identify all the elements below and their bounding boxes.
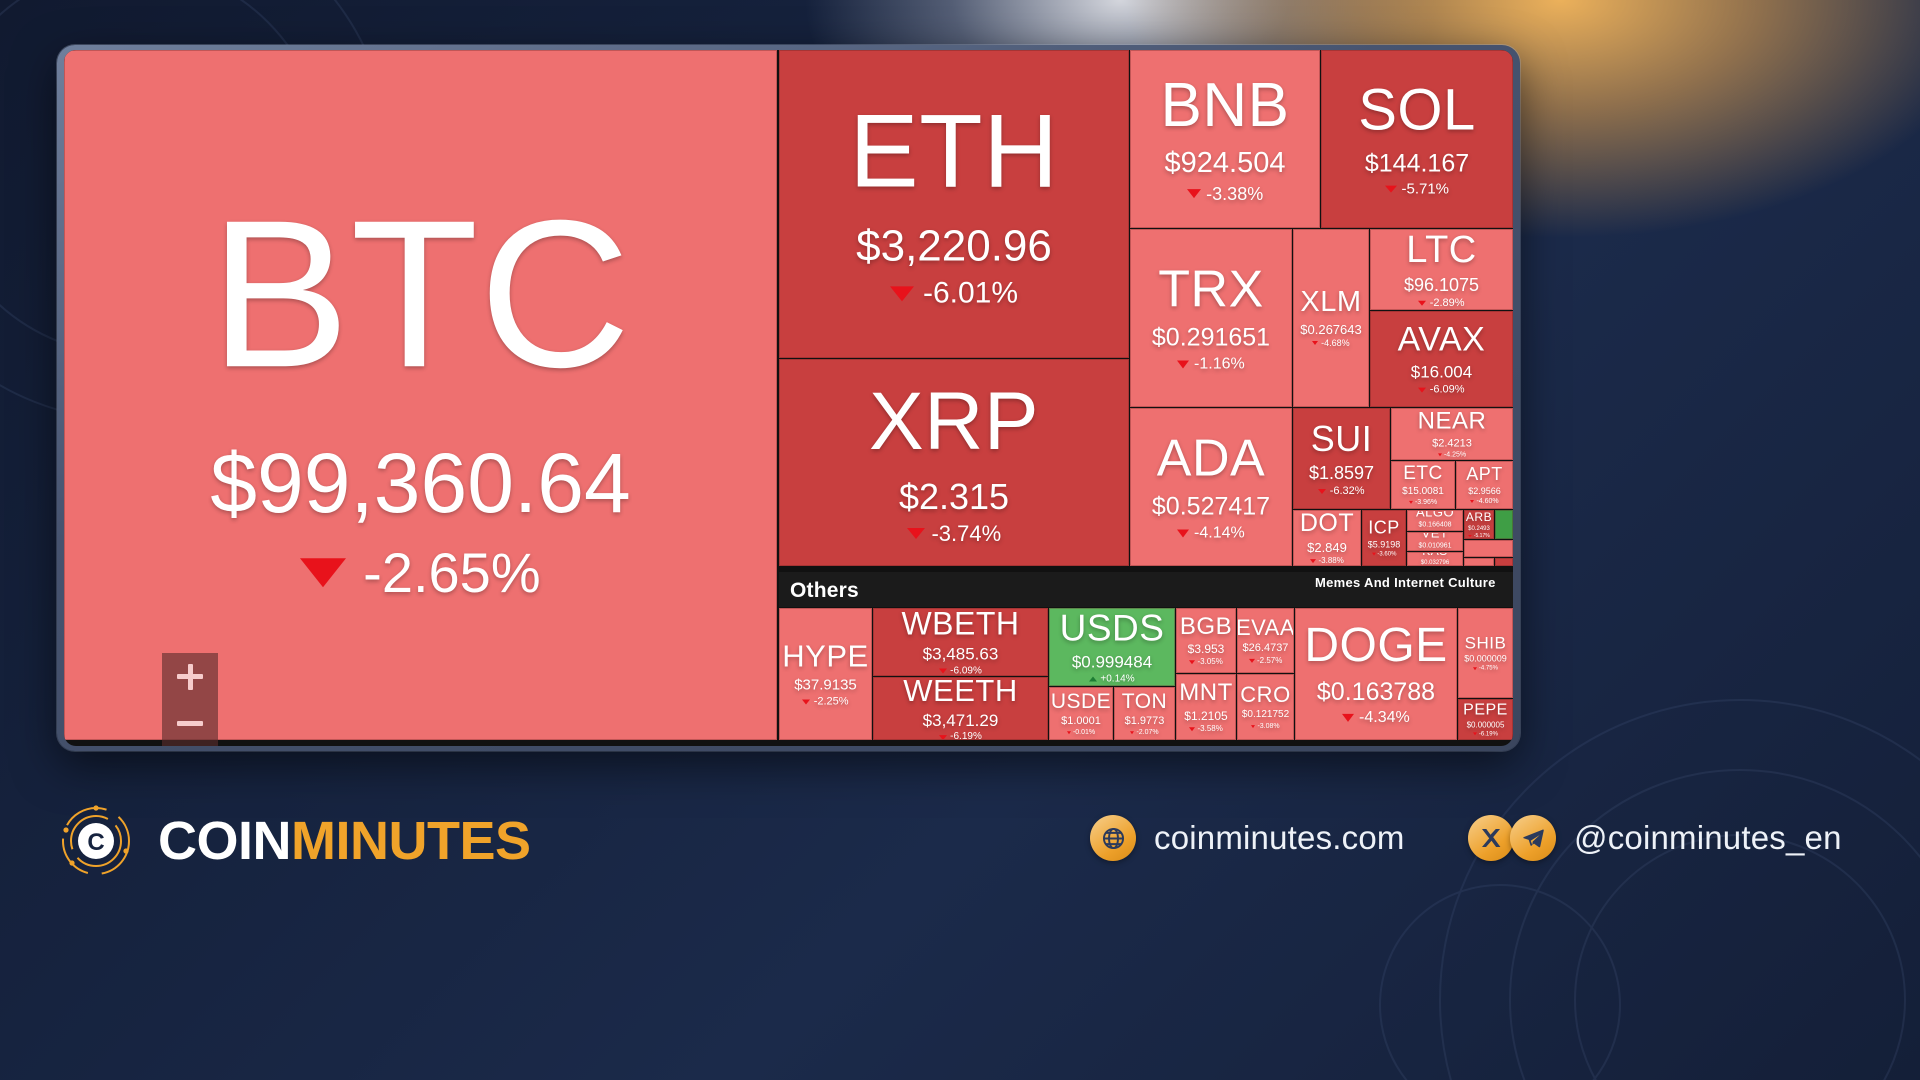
tile-symbol: USDS [1060,610,1165,647]
tile-change-value: -3.88% [1319,557,1344,565]
tile-price: $0.999484 [1072,654,1152,671]
treemap-tile-sui[interactable]: SUI$1.8597-6.32% [1293,408,1390,509]
treemap-tile-bnb[interactable]: BNB$924.504-3.38% [1130,50,1320,228]
tile-change: -0.01% [1067,729,1095,736]
treemap-tile-ada[interactable]: ADA$0.527417-4.14% [1130,408,1292,566]
treemap-tile[interactable] [1464,540,1513,557]
tile-change-value: -4.60% [1476,498,1498,505]
tile-symbol: SOL [1358,82,1476,140]
tile-price: $924.504 [1165,150,1286,179]
tile-price: $2.4213 [1432,438,1472,449]
tile-price: $0.000009 [1464,655,1507,664]
tile-change: -6.19% [939,732,982,740]
treemap-tile[interactable] [1495,558,1513,566]
tile-change: -4.34% [1342,710,1410,726]
tile-change-value: -4.34% [1359,710,1410,726]
treemap-tile-pepe[interactable]: PEPE$0.000005-6.19% [1458,699,1513,740]
tile-symbol: VET [1422,532,1449,539]
tile-symbol: AVAX [1398,323,1486,357]
treemap-tile-cro[interactable]: CRO$0.121752-3.08% [1237,674,1294,740]
tile-change: -5.71% [1385,181,1449,196]
tile-symbol: ICP [1368,519,1400,537]
coinminutes-logo-icon: C [60,805,132,877]
logo-letter: C [87,829,104,856]
tile-symbol: MNT [1179,681,1232,705]
triangle-down-icon [1189,727,1195,731]
tile-price: $0.291651 [1152,326,1270,351]
tile-change-value: -3.60% [1377,551,1396,557]
tile-change: +0.14% [1089,674,1134,684]
tile-symbol: ETH [849,99,1059,203]
tile-price: $0.527417 [1152,495,1270,520]
treemap-tile-ltc[interactable]: LTC$96.1075-2.89% [1370,229,1513,310]
tile-price: $1.8597 [1309,464,1374,482]
triangle-down-icon [1470,500,1474,503]
brand-word-coin: COIN [158,811,291,871]
treemap-tile-eth[interactable]: ETH$3,220.96-6.01% [779,50,1129,358]
brand-lockup: C COINMINUTES [60,805,531,877]
treemap-tile-usde[interactable]: USDE$1.0001-0.01% [1049,687,1113,740]
tile-price: $0.121752 [1242,710,1289,720]
tile-change-value: -6.32% [1330,486,1365,497]
tile-change: -1.16% [1177,356,1245,372]
treemap-tile-kas[interactable]: KAS$0.032796-5.11% [1407,552,1463,566]
group-header-memes-label: Memes And Internet Culture [1315,575,1496,590]
treemap-tile-icp[interactable]: ICP$5.9198-3.60% [1362,510,1406,566]
tile-change-value: -2.57% [1257,657,1282,665]
tile-change: -3.58% [1189,725,1223,733]
triangle-down-icon [802,700,810,705]
treemap-tile-sol[interactable]: SOL$144.167-5.71% [1321,50,1513,228]
triangle-down-icon [1251,725,1255,728]
tile-symbol: KAS [1422,552,1448,557]
treemap-tile-near[interactable]: NEAR$2.4213-4.25% [1391,408,1513,460]
tile-change-value: -2.65% [363,545,540,601]
tile-change: -4.60% [1470,498,1498,505]
social-icons[interactable] [1468,815,1556,861]
tile-price: $1.0001 [1061,716,1101,727]
tile-price: $1.2105 [1184,710,1227,722]
treemap-tile-ton[interactable]: TON$1.9773-2.07% [1114,687,1175,740]
tile-change: -3.05% [1189,658,1223,666]
treemap-tile-vet[interactable]: VET$0.010961-4.27% [1407,532,1463,551]
treemap-tile-trx[interactable]: TRX$0.291651-1.16% [1130,229,1292,407]
tile-change: -3.88% [1310,557,1344,565]
tile-price: $0.2493 [1468,526,1490,532]
treemap-tile-shib[interactable]: SHIB$0.000009-4.75% [1458,608,1513,698]
tile-symbol: ETC [1403,464,1443,483]
tile-change: -4.68% [1312,339,1349,348]
website-link[interactable]: coinminutes.com [1090,815,1405,861]
tile-price: $2.315 [899,479,1009,515]
tile-price: $0.010961 [1418,542,1451,549]
tile-change: -2.07% [1130,729,1158,736]
tile-change: -3.74% [907,523,1001,545]
triangle-down-icon [1310,559,1316,563]
treemap-tile-etc[interactable]: ETC$15.0081-3.96% [1391,461,1455,509]
tile-symbol: DOT [1300,511,1354,536]
tile-price: $26.4737 [1243,643,1289,654]
triangle-down-icon [939,735,947,740]
tile-change: -6.32% [1318,486,1364,497]
tile-symbol: XRP [869,380,1039,462]
tile-price: $0.163788 [1317,680,1435,705]
zoom-out-button[interactable] [162,700,218,746]
heatmap-window: BTC$99,360.64-2.65%ETH$3,220.96-6.01%XRP… [57,45,1520,751]
triangle-down-icon [300,558,346,587]
tile-change-value: -3.38% [1206,185,1263,203]
treemap-tile-apt[interactable]: APT$2.9566-4.60% [1456,461,1513,509]
tile-symbol: BGB [1180,615,1232,639]
tile-price: $3,220.96 [856,224,1052,268]
tile-price: $3,471.29 [923,712,999,729]
tile-change: -4.09% [1423,530,1448,531]
tile-change-value: -2.25% [814,697,849,708]
triangle-down-icon [1418,301,1426,306]
tile-symbol: APT [1466,465,1503,483]
x-twitter-icon[interactable] [1468,815,1514,861]
treemap-tile-xrp[interactable]: XRP$2.315-3.74% [779,359,1129,566]
tile-price: $1.9773 [1125,716,1165,727]
triangle-down-icon [1372,553,1376,556]
tile-change: -2.57% [1249,657,1283,665]
tile-change-value: -4.14% [1194,525,1245,541]
treemap-tile-doge[interactable]: DOGE$0.163788-4.34% [1295,608,1457,740]
tile-price: $16.004 [1411,363,1472,380]
treemap-tile-evaa[interactable]: EVAA$26.4737-2.57% [1237,608,1294,673]
tile-price: $0.166408 [1418,521,1451,528]
tile-change: -6.19% [1473,731,1498,737]
triangle-down-icon [1418,387,1426,392]
zoom-controls[interactable] [162,653,218,746]
treemap-tile[interactable] [1464,558,1494,566]
website-label: coinminutes.com [1154,819,1405,857]
tile-price: $2.849 [1307,541,1347,554]
triangle-down-icon [907,528,925,539]
zoom-in-button[interactable] [162,653,218,700]
treemap-tile-arb[interactable]: ARB$0.2493-5.17% [1464,510,1494,539]
triangle-down-icon [1342,714,1354,722]
tile-symbol: ARB [1466,511,1492,523]
tile-change-value: -1.16% [1194,356,1245,372]
tile-change-value: -6.19% [950,732,982,740]
tile-change: -3.96% [1409,499,1437,506]
tile-change-value: -3.08% [1257,723,1279,730]
social-handle-label: @coinminutes_en [1574,819,1842,857]
tile-price: $15.0081 [1402,487,1444,497]
triangle-down-icon [1249,659,1255,663]
tile-change: -3.08% [1251,723,1279,730]
tile-symbol: NEAR [1418,409,1487,433]
telegram-icon[interactable] [1510,815,1556,861]
tile-symbol: EVAA [1237,616,1294,638]
treemap-tile-bgb[interactable]: BGB$3.953-3.05% [1176,608,1236,673]
tile-price: $3.953 [1188,644,1225,656]
tile-symbol: ADA [1157,433,1265,485]
tile-symbol: WEETH [903,677,1017,706]
triangle-down-icon [1312,341,1318,345]
tile-change-value: -6.01% [923,279,1018,309]
tile-symbol: HYPE [782,640,868,671]
tile-change: -3.60% [1372,551,1397,557]
triangle-down-icon [1187,189,1201,198]
treemap-tile-usds[interactable]: USDS$0.999484+0.14% [1049,608,1175,686]
tile-change: -2.25% [802,697,848,708]
tile-change: -4.75% [1473,666,1498,672]
tile-change-value: -4.75% [1479,666,1498,672]
tile-symbol: SUI [1311,420,1373,456]
tile-change-value: -3.74% [931,523,1001,545]
tile-change: -5.17% [1468,534,1489,539]
triangle-down-icon [1473,667,1477,670]
tile-price: $96.1075 [1404,276,1479,294]
treemap-tile-weeth[interactable]: WEETH$3,471.29-6.19% [873,677,1048,740]
tile-change-value: -4.09% [1428,530,1447,531]
triangle-down-icon [939,669,947,674]
tile-change: -3.38% [1187,185,1263,203]
tile-change-value: -3.96% [1415,499,1437,506]
tile-change-value: -3.58% [1198,725,1223,733]
tile-price: $0.032796 [1421,560,1449,566]
tile-symbol: USDE [1051,691,1111,712]
treemap-tile-xlm[interactable]: XLM$0.267643-4.68% [1293,229,1369,407]
tile-symbol: XLM [1300,288,1361,317]
tile-change: -2.65% [300,545,540,601]
triangle-down-icon [1318,489,1326,494]
tile-symbol: DOGE [1304,622,1447,670]
globe-icon [1090,815,1136,861]
tile-price: $0.000005 [1467,721,1505,729]
tile-price: $2.9566 [1468,487,1501,496]
group-header-memes: Memes And Internet Culture [1295,572,1513,607]
tile-price: $0.267643 [1300,323,1361,336]
treemap-tile-algo[interactable]: ALGO$0.166408-4.09% [1407,510,1463,531]
treemap-viewport[interactable]: BTC$99,360.64-2.65%ETH$3,220.96-6.01%XRP… [64,50,1513,746]
triangle-up-icon [1089,677,1097,682]
treemap-tile-avax[interactable]: AVAX$16.004-6.09% [1370,311,1513,407]
tile-change-value: -4.25% [1444,452,1466,459]
tile-change: -4.25% [1438,452,1466,459]
tile-price: $144.167 [1365,151,1469,176]
treemap-tile-wbeth[interactable]: WBETH$3,485.63-6.09% [873,608,1048,676]
triangle-down-icon [1409,501,1413,504]
tile-price: $3,485.63 [923,646,999,663]
tile-change-value: -0.01% [1073,729,1095,736]
tile-change-value: -5.17% [1474,534,1490,539]
treemap-tile-btc[interactable]: BTC$99,360.64-2.65% [64,50,777,740]
triangle-down-icon [1438,454,1442,457]
tile-price: $37.9135 [794,678,857,693]
tile-symbol: BTC [210,189,632,399]
triangle-down-icon [1177,529,1189,537]
tile-symbol: PEPE [1463,702,1508,718]
tile-change-value: -2.89% [1430,298,1465,309]
tile-symbol: CRO [1240,684,1290,706]
triangle-down-icon [890,286,914,301]
triangle-down-icon [1473,733,1477,736]
tile-symbol: WBETH [901,608,1019,640]
treemap-tile-hype[interactable]: HYPE$37.9135-2.25% [779,608,872,740]
group-header-others-label: Others [790,579,859,603]
tile-change: -6.09% [1418,384,1464,395]
treemap-tile-mnt[interactable]: MNT$1.2105-3.58% [1176,674,1236,740]
tile-symbol: TRX [1158,264,1264,316]
tile-change: -4.14% [1177,525,1245,541]
tile-change: -6.09% [939,666,982,676]
tile-change-value: -6.09% [950,666,982,676]
footer: C COINMINUTES coinminutes.com [0,760,1920,1080]
brand-wordmark: COINMINUTES [158,810,531,872]
tile-symbol: ALGO [1416,510,1454,518]
tile-change-value: -5.71% [1401,181,1449,196]
tile-change-value: -6.09% [1430,384,1465,395]
triangle-down-icon [1189,660,1195,664]
tile-change-value: +0.14% [1100,674,1134,684]
tile-change: -6.01% [890,279,1018,309]
triangle-down-icon [1177,360,1189,368]
tile-symbol: BNB [1161,75,1290,137]
tile-price: $5.9198 [1368,540,1401,549]
brand-word-minutes: MINUTES [291,811,531,871]
tile-symbol: TON [1122,691,1167,712]
tile-change-value: -6.19% [1479,731,1498,737]
triangle-down-icon [1468,535,1472,537]
treemap-tile[interactable] [1495,510,1513,539]
tile-change-value: -3.05% [1198,658,1223,666]
tile-price: $99,360.64 [210,441,630,525]
tile-symbol: LTC [1406,230,1476,268]
tile-symbol: SHIB [1465,634,1507,651]
tile-change-value: -4.68% [1321,339,1350,348]
social-handle[interactable]: @coinminutes_en [1468,815,1842,861]
triangle-down-icon [1385,185,1397,192]
tile-change-value: -2.07% [1136,729,1158,736]
tile-change: -2.89% [1418,298,1464,309]
treemap-tile-dot[interactable]: DOT$2.849-3.88% [1293,510,1361,566]
triangle-down-icon [1130,731,1134,734]
triangle-down-icon [1067,731,1071,734]
